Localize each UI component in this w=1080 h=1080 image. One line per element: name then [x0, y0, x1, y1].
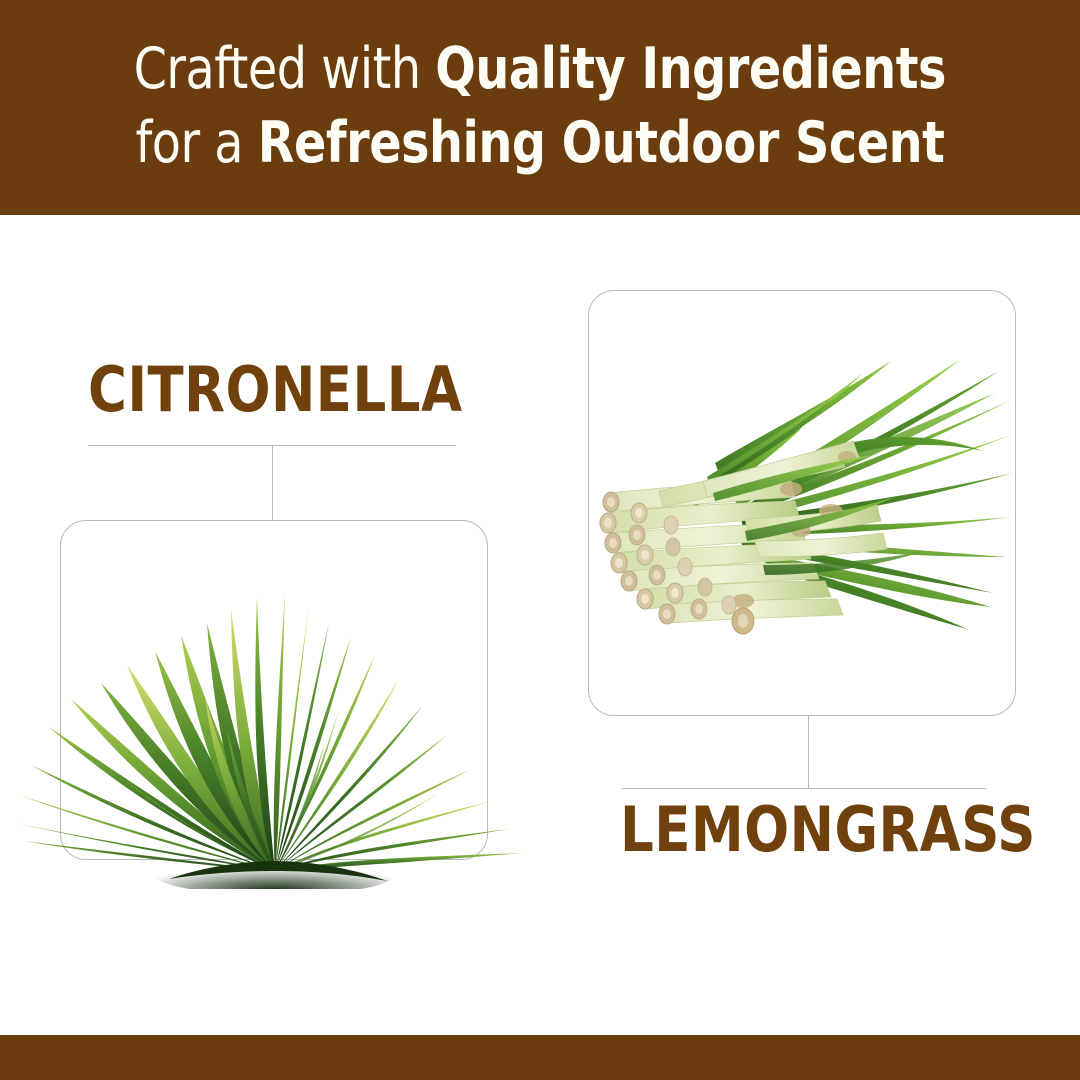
bottom-color-band	[0, 1035, 1080, 1080]
ingredient-showcase: CITRONELLA LEMONGRASS	[0, 215, 1080, 1035]
citronella-grass-clump-image	[9, 579, 541, 889]
top-headline-banner: Crafted with Quality Ingredients for a R…	[0, 0, 1080, 215]
headline-line-2-light: for a	[135, 110, 257, 176]
headline-line-1-light: Crafted with	[134, 36, 436, 102]
lemongrass-overline-rule	[622, 788, 986, 789]
lemongrass-stalk-bundle-image	[595, 355, 1013, 655]
headline-line-2-bold: Refreshing Outdoor Scent	[258, 110, 945, 176]
citronella-photo-card	[60, 520, 488, 860]
headline-line-1: Crafted with Quality Ingredients	[134, 32, 946, 106]
headline-line-1-bold: Quality Ingredients	[436, 36, 947, 102]
citronella-connector-line	[272, 445, 273, 521]
ingredient-label-lemongrass: LEMONGRASS	[620, 793, 1036, 866]
lemongrass-photo-card	[588, 290, 1016, 716]
lemongrass-connector-line	[808, 716, 809, 788]
ingredient-label-citronella: CITRONELLA	[88, 353, 462, 426]
headline-line-2: for a Refreshing Outdoor Scent	[135, 106, 944, 180]
